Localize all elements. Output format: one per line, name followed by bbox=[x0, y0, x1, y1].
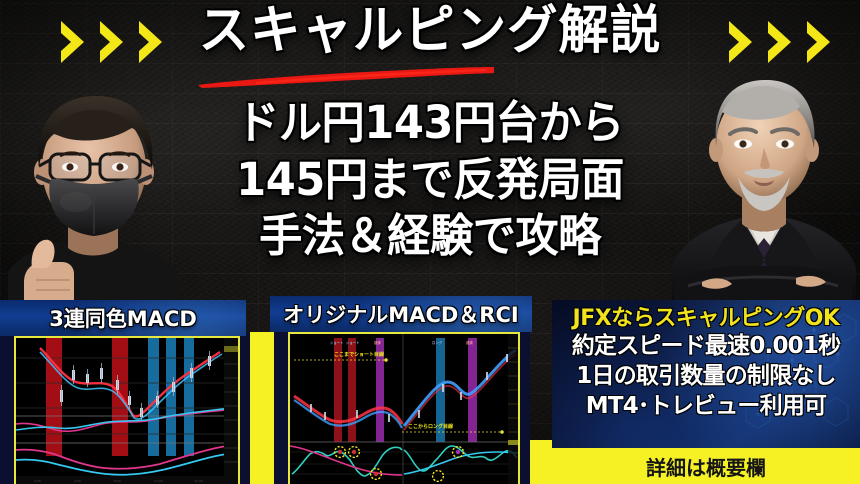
cta-footer-text: 詳細は概要欄 bbox=[646, 452, 766, 481]
svg-text:8:00: 8:00 bbox=[114, 479, 121, 483]
info-row-1: 約定スピード最速0.001秒 bbox=[552, 332, 860, 362]
svg-text:0:00: 0:00 bbox=[34, 479, 41, 483]
svg-text:4:00: 4:00 bbox=[74, 479, 81, 483]
youtube-thumbnail: スキャルピング解説 ドル円143円台から 145円まで反発局面 手法＆経験で攻略 bbox=[0, 0, 860, 484]
svg-text:ロング: ロング bbox=[432, 340, 443, 345]
chart-label-right-text: オリジナルMACD＆RCI bbox=[283, 299, 518, 329]
chart-label-right: オリジナルMACD＆RCI bbox=[270, 296, 532, 332]
info-row-2: 1日の取引数量の制限なし bbox=[552, 362, 860, 392]
svg-text:決済: 決済 bbox=[466, 340, 473, 345]
subtitle-block: ドル円143円台から 145円まで反発局面 手法＆経験で攻略 bbox=[0, 95, 860, 265]
svg-text:決済: 決済 bbox=[374, 340, 381, 345]
svg-text:ここまでショート目線: ここまでショート目線 bbox=[334, 351, 384, 358]
headline-block: スキャルピング解説 bbox=[0, 4, 860, 59]
chart-macd-rci-svg: ショート ショート 決済 ロング 決済 ここまでショート目線 ここからロング目線 bbox=[290, 334, 518, 484]
chart-macd-triple-svg: 0:004:00 8:0012:0016:00 bbox=[16, 338, 238, 484]
bottom-strip: 0:004:00 8:0012:0016:00 bbox=[0, 300, 860, 484]
subtitle-line-1: ドル円143円台から bbox=[17, 95, 843, 152]
info-headline: JFXならスキャルピングOK bbox=[552, 306, 860, 332]
subtitle-line-3: 手法＆経験で攻略 bbox=[17, 208, 843, 265]
chart-macd-triple[interactable]: 0:004:00 8:0012:0016:00 bbox=[14, 336, 240, 484]
chart-label-left: 3連同色MACD bbox=[0, 300, 246, 336]
svg-text:ショート: ショート bbox=[346, 341, 360, 345]
chart-macd-rci[interactable]: ショート ショート 決済 ロング 決済 ここまでショート目線 ここからロング目線 bbox=[288, 332, 520, 484]
cta-footer-bar[interactable]: 詳細は概要欄 bbox=[552, 448, 860, 484]
red-brush-underline-icon bbox=[196, 64, 496, 90]
svg-text:ショート: ショート bbox=[330, 341, 344, 345]
svg-text:16:00: 16:00 bbox=[194, 479, 203, 483]
svg-text:ここからロング目線: ここからロング目線 bbox=[408, 423, 453, 430]
page-title: スキャルピング解説 bbox=[13, 4, 847, 59]
svg-text:12:00: 12:00 bbox=[154, 479, 163, 483]
yellow-divider-1 bbox=[250, 332, 274, 484]
info-panel-text: JFXならスキャルピングOK 約定スピード最速0.001秒 1日の取引数量の制限… bbox=[552, 300, 860, 448]
yellow-divider-2 bbox=[530, 440, 552, 484]
info-row-3: MT4･トレビュー利用可 bbox=[552, 392, 860, 422]
chart-label-left-text: 3連同色MACD bbox=[49, 303, 197, 333]
subtitle-line-2: 145円まで反発局面 bbox=[17, 152, 843, 209]
info-panel: JFXならスキャルピングOK 約定スピード最速0.001秒 1日の取引数量の制限… bbox=[552, 300, 860, 448]
